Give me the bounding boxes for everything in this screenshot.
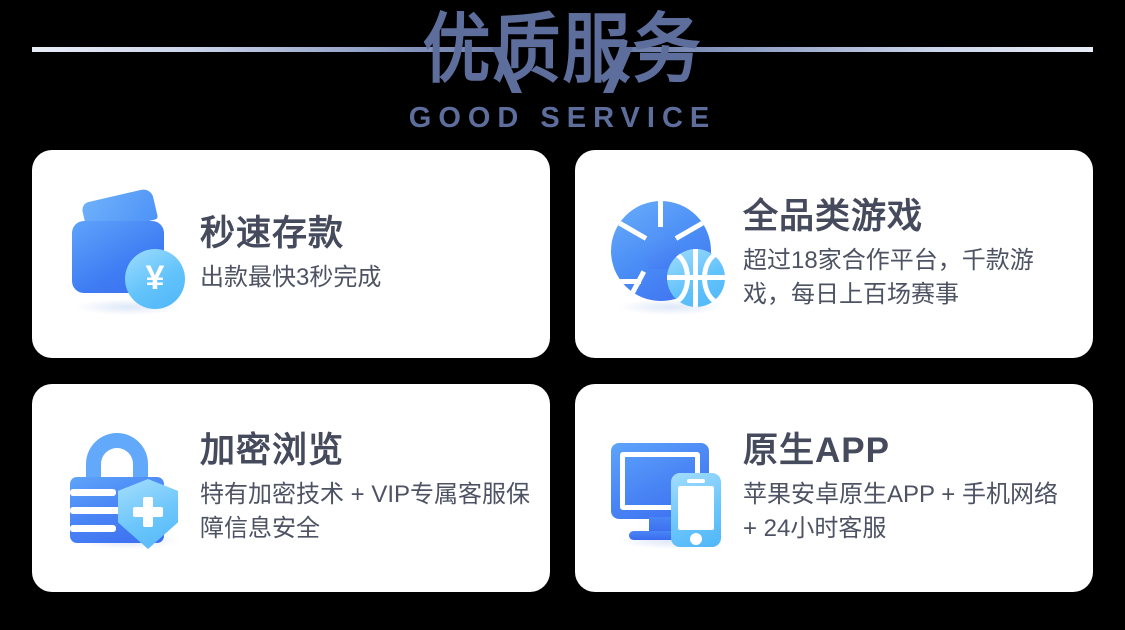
yen-symbol: ¥ [146,261,165,295]
feature-card-encryption[interactable]: 加密浏览 特有加密技术 + VIP专属客服保障信息安全 [32,384,550,592]
phone-home-button-icon [690,533,702,545]
basketball-seam-icon [702,251,725,305]
soccer-seam-icon [675,214,711,240]
yen-coin-icon: ¥ [125,249,185,309]
basketball-seam-icon [667,251,690,305]
card-subtitle: 出款最快3秒完成 [200,261,532,295]
phone-screen-icon [678,486,714,530]
feature-card-text: 加密浏览 特有加密技术 + VIP专属客服保障信息安全 [200,430,550,546]
good-service-banner: 优质服务 GOOD SERVICE ¥ 秒速存款 出款最快3秒完成 [0,0,1125,630]
card-subtitle: 特有加密技术 + VIP专属客服保障信息安全 [200,478,532,546]
card-subtitle: 苹果安卓原生APP + 手机网络 + 24小时客服 [743,478,1075,546]
page-title: 优质服务 [0,4,1125,96]
soccer-seam-icon [621,270,646,301]
soccer-ball-icon [609,195,727,313]
card-subtitle: 超过18家合作平台，千款游戏，每日上百场赛事 [743,244,1075,312]
feature-card-grid: ¥ 秒速存款 出款最快3秒完成 [32,150,1093,592]
feature-card-app[interactable]: 原生APP 苹果安卓原生APP + 手机网络 + 24小时客服 [575,384,1093,592]
lock-slot-icon [70,525,116,532]
soccer-seam-icon [658,201,663,227]
wallet-icon: ¥ [66,195,184,313]
feature-card-deposit[interactable]: ¥ 秒速存款 出款最快3秒完成 [32,150,550,358]
card-title: 全品类游戏 [743,196,1075,238]
plus-icon [133,497,163,527]
page-subtitle: GOOD SERVICE [0,101,1125,135]
feature-card-text: 秒速存款 出款最快3秒完成 [200,213,550,295]
feature-card-games[interactable]: 全品类游戏 超过18家合作平台，千款游戏，每日上百场赛事 [575,150,1093,358]
basketball-icon [667,249,725,307]
feature-card-text: 全品类游戏 超过18家合作平台，千款游戏，每日上百场赛事 [743,196,1093,312]
card-title: 原生APP [743,430,1075,472]
phone-speaker-icon [687,479,705,483]
monitor-phone-icon [609,429,727,547]
card-title: 秒速存款 [200,213,532,255]
card-title: 加密浏览 [200,430,532,472]
feature-card-text: 原生APP 苹果安卓原生APP + 手机网络 + 24小时客服 [743,430,1093,546]
soccer-seam-icon [611,214,647,240]
lock-slot-icon [70,489,116,496]
lock-shield-icon [66,429,184,547]
banner-header: 优质服务 GOOD SERVICE [0,0,1125,140]
